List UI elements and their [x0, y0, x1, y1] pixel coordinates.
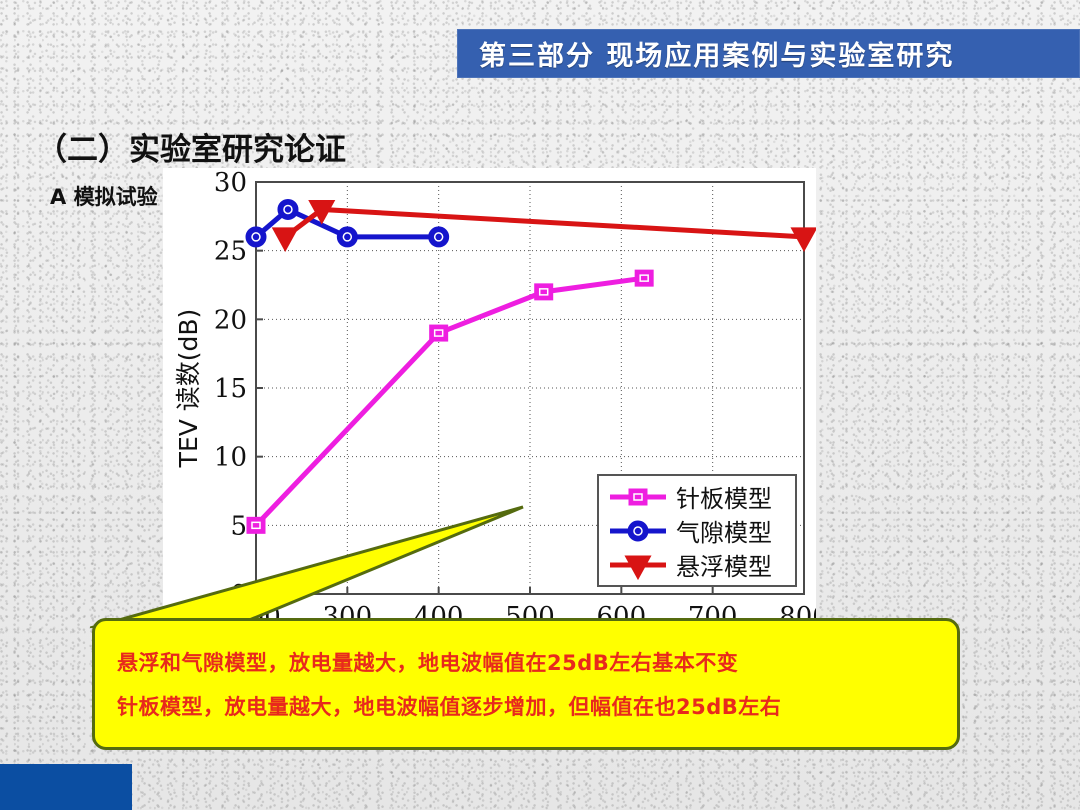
legend-label: 气隙模型: [676, 519, 772, 547]
callout-arrow: [90, 498, 540, 628]
y-tick-label: 25: [214, 237, 247, 267]
y-tick-label: 30: [214, 168, 247, 198]
series-气隙模型: [247, 200, 448, 245]
page-title: （二）实验室研究论证: [36, 124, 346, 169]
chart-legend: 针板模型气隙模型悬浮模型: [598, 475, 796, 586]
page-subtitle: A 模拟试验: [50, 181, 158, 211]
series-针板模型: [248, 271, 652, 532]
y-tick-label: 15: [214, 374, 247, 404]
callout-box: 悬浮和气隙模型，放电量越大，地电波幅值在25dB左右基本不变 针板模型，放电量越…: [92, 618, 960, 750]
callout-line-2: 针板模型，放电量越大，地电波幅值逐步增加，但幅值在也25dB左右: [117, 691, 935, 721]
header-banner: 第三部分 现场应用案例与实验室研究: [457, 29, 1080, 78]
footer-accent-block: [0, 764, 132, 810]
y-tick-label: 20: [214, 305, 247, 335]
y-axis-label: TEV 读数(dB): [174, 309, 203, 469]
header-banner-title: 第三部分 现场应用案例与实验室研究: [457, 34, 954, 73]
legend-label: 悬浮模型: [676, 553, 772, 581]
y-tick-label: 10: [214, 443, 247, 473]
callout-line-1: 悬浮和气隙模型，放电量越大，地电波幅值在25dB左右基本不变: [117, 647, 935, 677]
legend-label: 针板模型: [676, 485, 772, 513]
